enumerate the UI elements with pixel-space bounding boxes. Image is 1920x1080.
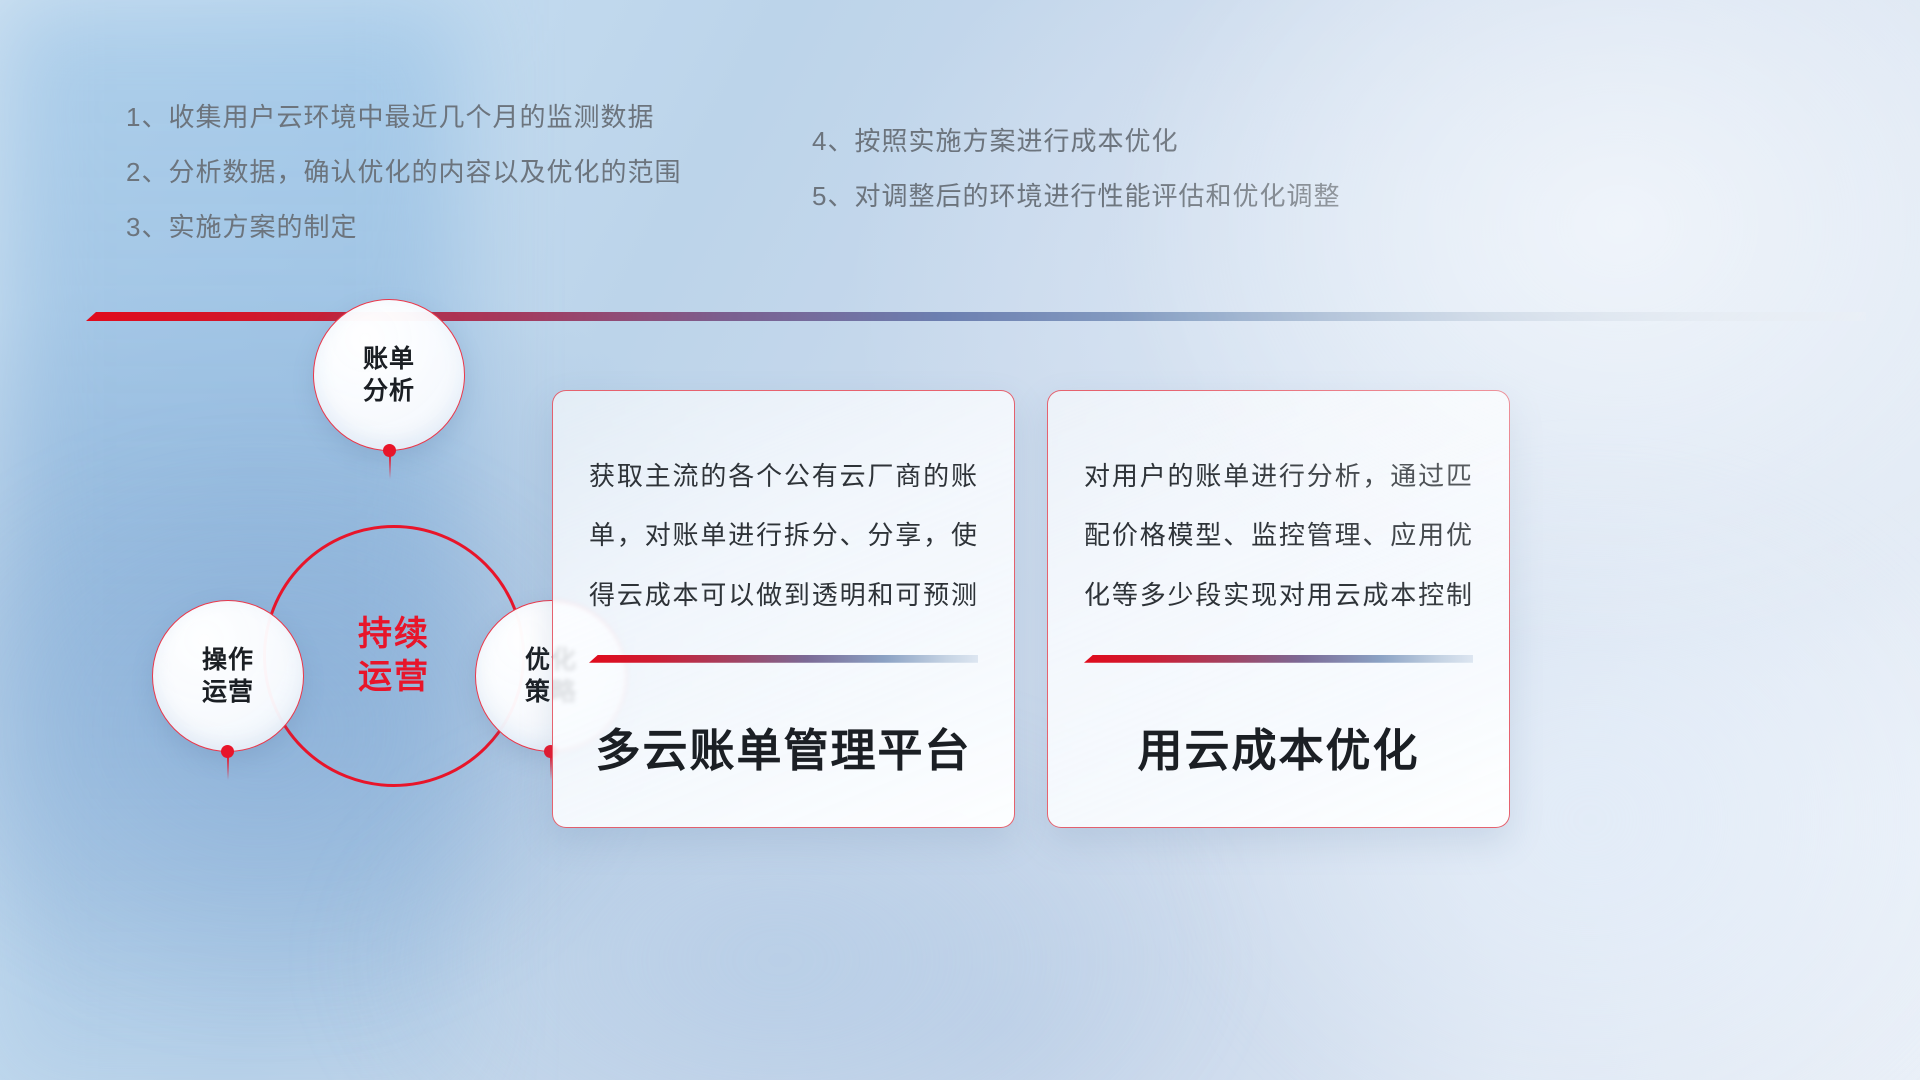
bubble-operations-line1: 操作 [202, 644, 254, 677]
bubble-bill-analysis-line1: 账单 [363, 343, 415, 376]
step-item-5: 5、对调整后的环境进行性能评估和优化调整 [812, 183, 1340, 209]
card-2-title: 用云成本优化 [1084, 726, 1473, 776]
node-dot-top-icon [383, 444, 396, 457]
center-ring-label-line1: 持续 [358, 613, 430, 656]
card-1-body: 获取主流的各个公有云厂商的账单，对账单进行拆分、分享，使得云成本可以做到透明和可… [589, 447, 978, 625]
bubble-bill-analysis[interactable]: 账单 分析 [313, 299, 465, 451]
bubble-bill-analysis-line2: 分析 [363, 375, 415, 408]
steps-left-column: 1、收集用户云环境中最近几个月的监测数据 2、分析数据，确认优化的内容以及优化的… [126, 104, 681, 269]
card-cloud-cost-optimization[interactable]: 对用户的账单进行分析，通过匹配价格模型、监控管理、应用优化等多少段实现对用云成本… [1047, 390, 1510, 828]
card-1-divider [589, 655, 978, 663]
step-item-1: 1、收集用户云环境中最近几个月的监测数据 [126, 104, 681, 130]
bubble-operations-line2: 运营 [202, 676, 254, 709]
card-2-divider [1084, 655, 1473, 663]
node-dot-left-icon [221, 745, 234, 758]
step-item-2: 2、分析数据，确认优化的内容以及优化的范围 [126, 159, 681, 185]
bubble-operations[interactable]: 操作 运营 [152, 600, 304, 752]
connector-tick-left-icon [227, 756, 229, 780]
steps-right-column: 4、按照实施方案进行成本优化 5、对调整后的环境进行性能评估和优化调整 [812, 128, 1340, 238]
connector-tick-top-icon [389, 455, 391, 479]
card-1-title: 多云账单管理平台 [589, 726, 978, 776]
step-item-4: 4、按照实施方案进行成本优化 [812, 128, 1340, 154]
center-ring-label-line2: 运营 [358, 656, 430, 699]
card-multicloud-billing-platform[interactable]: 获取主流的各个公有云厂商的账单，对账单进行拆分、分享，使得云成本可以做到透明和可… [552, 390, 1015, 828]
step-item-3: 3、实施方案的制定 [126, 214, 681, 240]
slide-canvas: 1、收集用户云环境中最近几个月的监测数据 2、分析数据，确认优化的内容以及优化的… [0, 0, 1920, 1080]
card-2-body: 对用户的账单进行分析，通过匹配价格模型、监控管理、应用优化等多少段实现对用云成本… [1084, 447, 1473, 625]
